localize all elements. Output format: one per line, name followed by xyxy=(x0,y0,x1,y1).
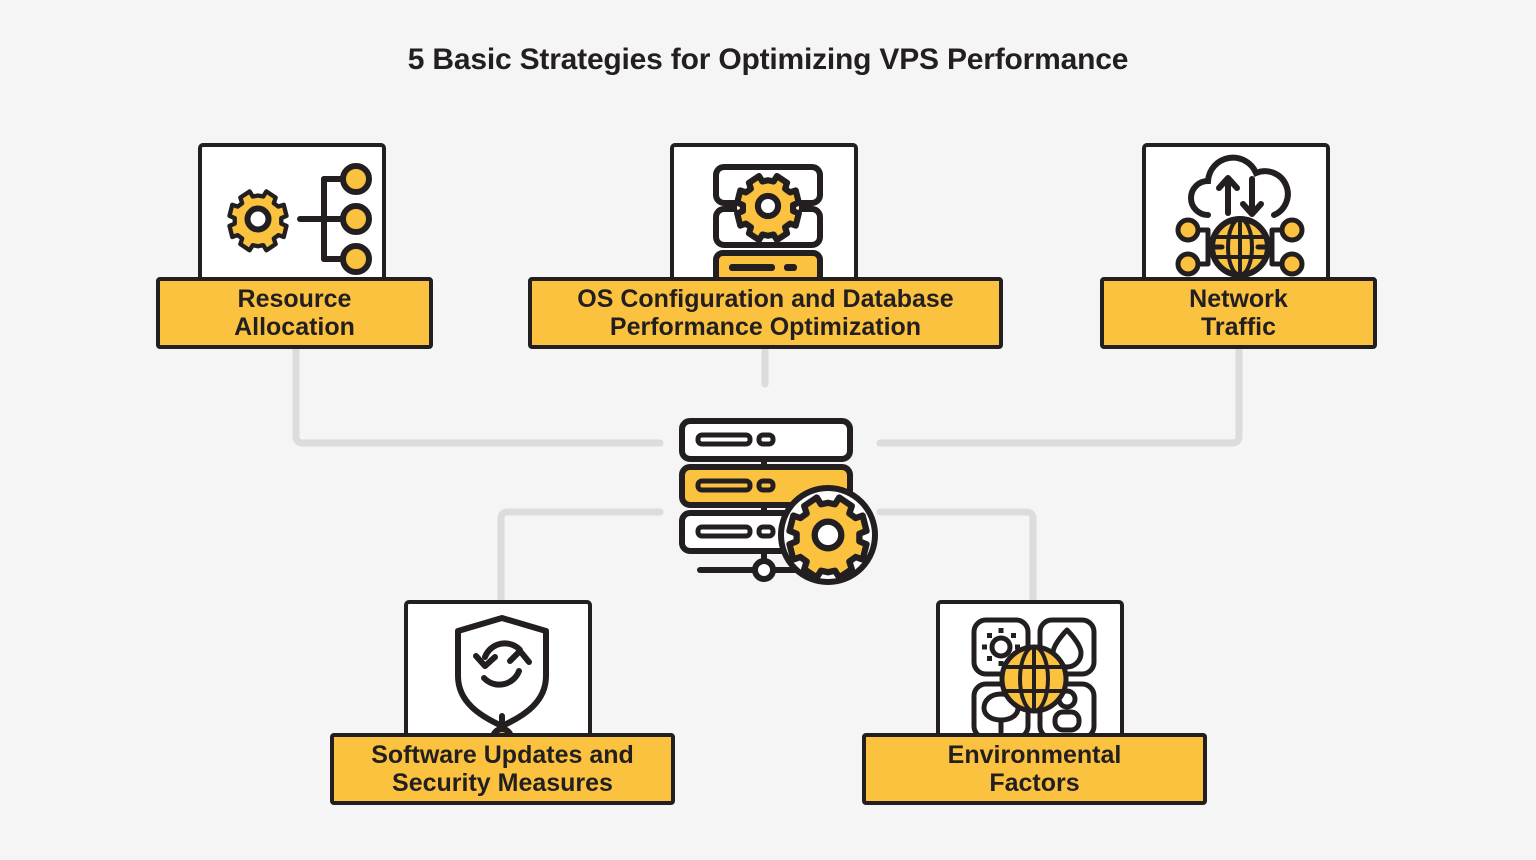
infographic-canvas: 5 Basic Strategies for Optimizing VPS Pe… xyxy=(0,0,1536,860)
cloud-globe-network-icon xyxy=(1146,147,1334,297)
os-configuration-icon-panel xyxy=(670,143,858,293)
wire-network-traffic xyxy=(880,350,1239,443)
resource-allocation-icon-panel xyxy=(198,143,386,293)
server-gear-icon xyxy=(674,147,862,297)
os-configuration-label[interactable]: OS Configuration and Database Performanc… xyxy=(528,277,1003,349)
network-traffic-label[interactable]: Network Traffic xyxy=(1100,277,1377,349)
network-traffic-icon-panel xyxy=(1142,143,1330,293)
globe-environment-icon xyxy=(940,604,1128,754)
software-updates-icon-panel xyxy=(404,600,592,750)
wire-environmental-factors xyxy=(880,512,1033,604)
central-server-hub xyxy=(660,405,895,585)
wire-resource-allocation xyxy=(296,350,660,443)
gear-branch-icon xyxy=(202,147,390,297)
shield-refresh-icon xyxy=(408,604,596,754)
wire-software-updates xyxy=(501,512,660,604)
software-updates-label[interactable]: Software Updates and Security Measures xyxy=(330,733,675,805)
environmental-factors-label[interactable]: Environmental Factors xyxy=(862,733,1207,805)
server-rack-gear-icon xyxy=(660,405,895,585)
resource-allocation-label[interactable]: Resource Allocation xyxy=(156,277,433,349)
environmental-factors-icon-panel xyxy=(936,600,1124,750)
